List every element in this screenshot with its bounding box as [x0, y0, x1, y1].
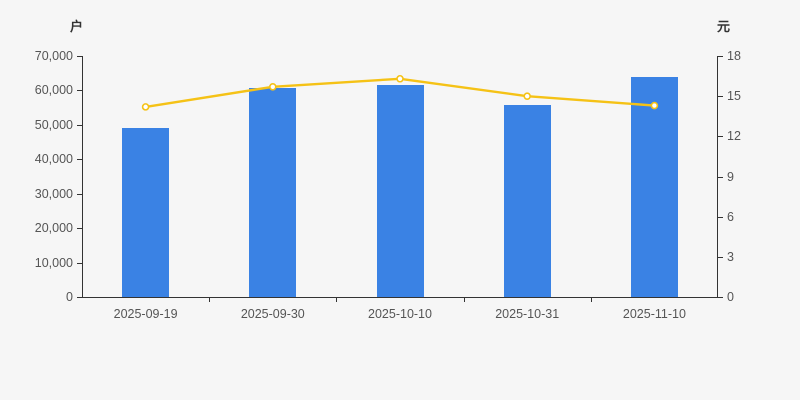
line-marker[interactable]	[524, 93, 530, 99]
bar[interactable]	[122, 128, 169, 297]
right-axis-tick	[718, 96, 723, 97]
x-axis-line	[82, 297, 718, 298]
left-axis-tick	[77, 297, 82, 298]
x-axis-tick	[209, 297, 210, 302]
left-axis-tick	[77, 56, 82, 57]
x-axis-tick	[336, 297, 337, 302]
left-axis-tick-label: 0	[66, 291, 73, 304]
bar[interactable]	[504, 105, 551, 297]
x-axis-tick-label: 2025-10-10	[368, 308, 432, 321]
right-axis-tick	[718, 297, 723, 298]
right-axis-tick-label: 18	[727, 50, 741, 63]
left-axis-unit-label: 户	[70, 16, 83, 35]
left-axis-tick	[77, 90, 82, 91]
left-axis-tick-label: 50,000	[35, 119, 73, 132]
right-axis-tick-label: 12	[727, 130, 741, 143]
left-axis-tick-label: 40,000	[35, 153, 73, 166]
left-axis-tick	[77, 263, 82, 264]
bar[interactable]	[377, 85, 424, 297]
right-axis-tick-label: 9	[727, 170, 734, 183]
right-axis-tick-label: 3	[727, 251, 734, 264]
right-axis-tick	[718, 177, 723, 178]
right-axis-tick	[718, 217, 723, 218]
left-axis-tick-label: 70,000	[35, 50, 73, 63]
right-axis-tick	[718, 136, 723, 137]
x-axis-tick	[591, 297, 592, 302]
line-marker[interactable]	[397, 76, 403, 82]
left-axis-tick-label: 10,000	[35, 256, 73, 269]
x-axis-tick-label: 2025-09-30	[241, 308, 305, 321]
line-marker[interactable]	[143, 104, 149, 110]
x-axis-tick-label: 2025-10-31	[495, 308, 559, 321]
left-axis-tick	[77, 159, 82, 160]
bar[interactable]	[249, 88, 296, 297]
right-axis-tick	[718, 56, 723, 57]
right-axis-tick-label: 0	[727, 291, 734, 304]
left-axis-tick-label: 20,000	[35, 222, 73, 235]
bar[interactable]	[631, 77, 678, 297]
right-axis-tick-label: 15	[727, 90, 741, 103]
x-axis-tick-label: 2025-09-19	[114, 308, 178, 321]
left-axis-tick	[77, 125, 82, 126]
x-axis-tick-label: 2025-11-10	[623, 308, 686, 321]
left-axis-tick	[77, 228, 82, 229]
plot-area: 010,00020,00030,00040,00050,00060,00070,…	[82, 56, 718, 297]
left-axis-tick-label: 30,000	[35, 187, 73, 200]
right-axis-tick	[718, 257, 723, 258]
right-axis-unit-label: 元	[717, 16, 730, 35]
x-axis-tick	[464, 297, 465, 302]
chart-container: 户 元 010,00020,00030,00040,00050,00060,00…	[0, 0, 800, 400]
left-axis-tick	[77, 194, 82, 195]
left-axis-tick-label: 60,000	[35, 84, 73, 97]
right-axis-tick-label: 6	[727, 210, 734, 223]
left-axis-line	[82, 56, 83, 297]
